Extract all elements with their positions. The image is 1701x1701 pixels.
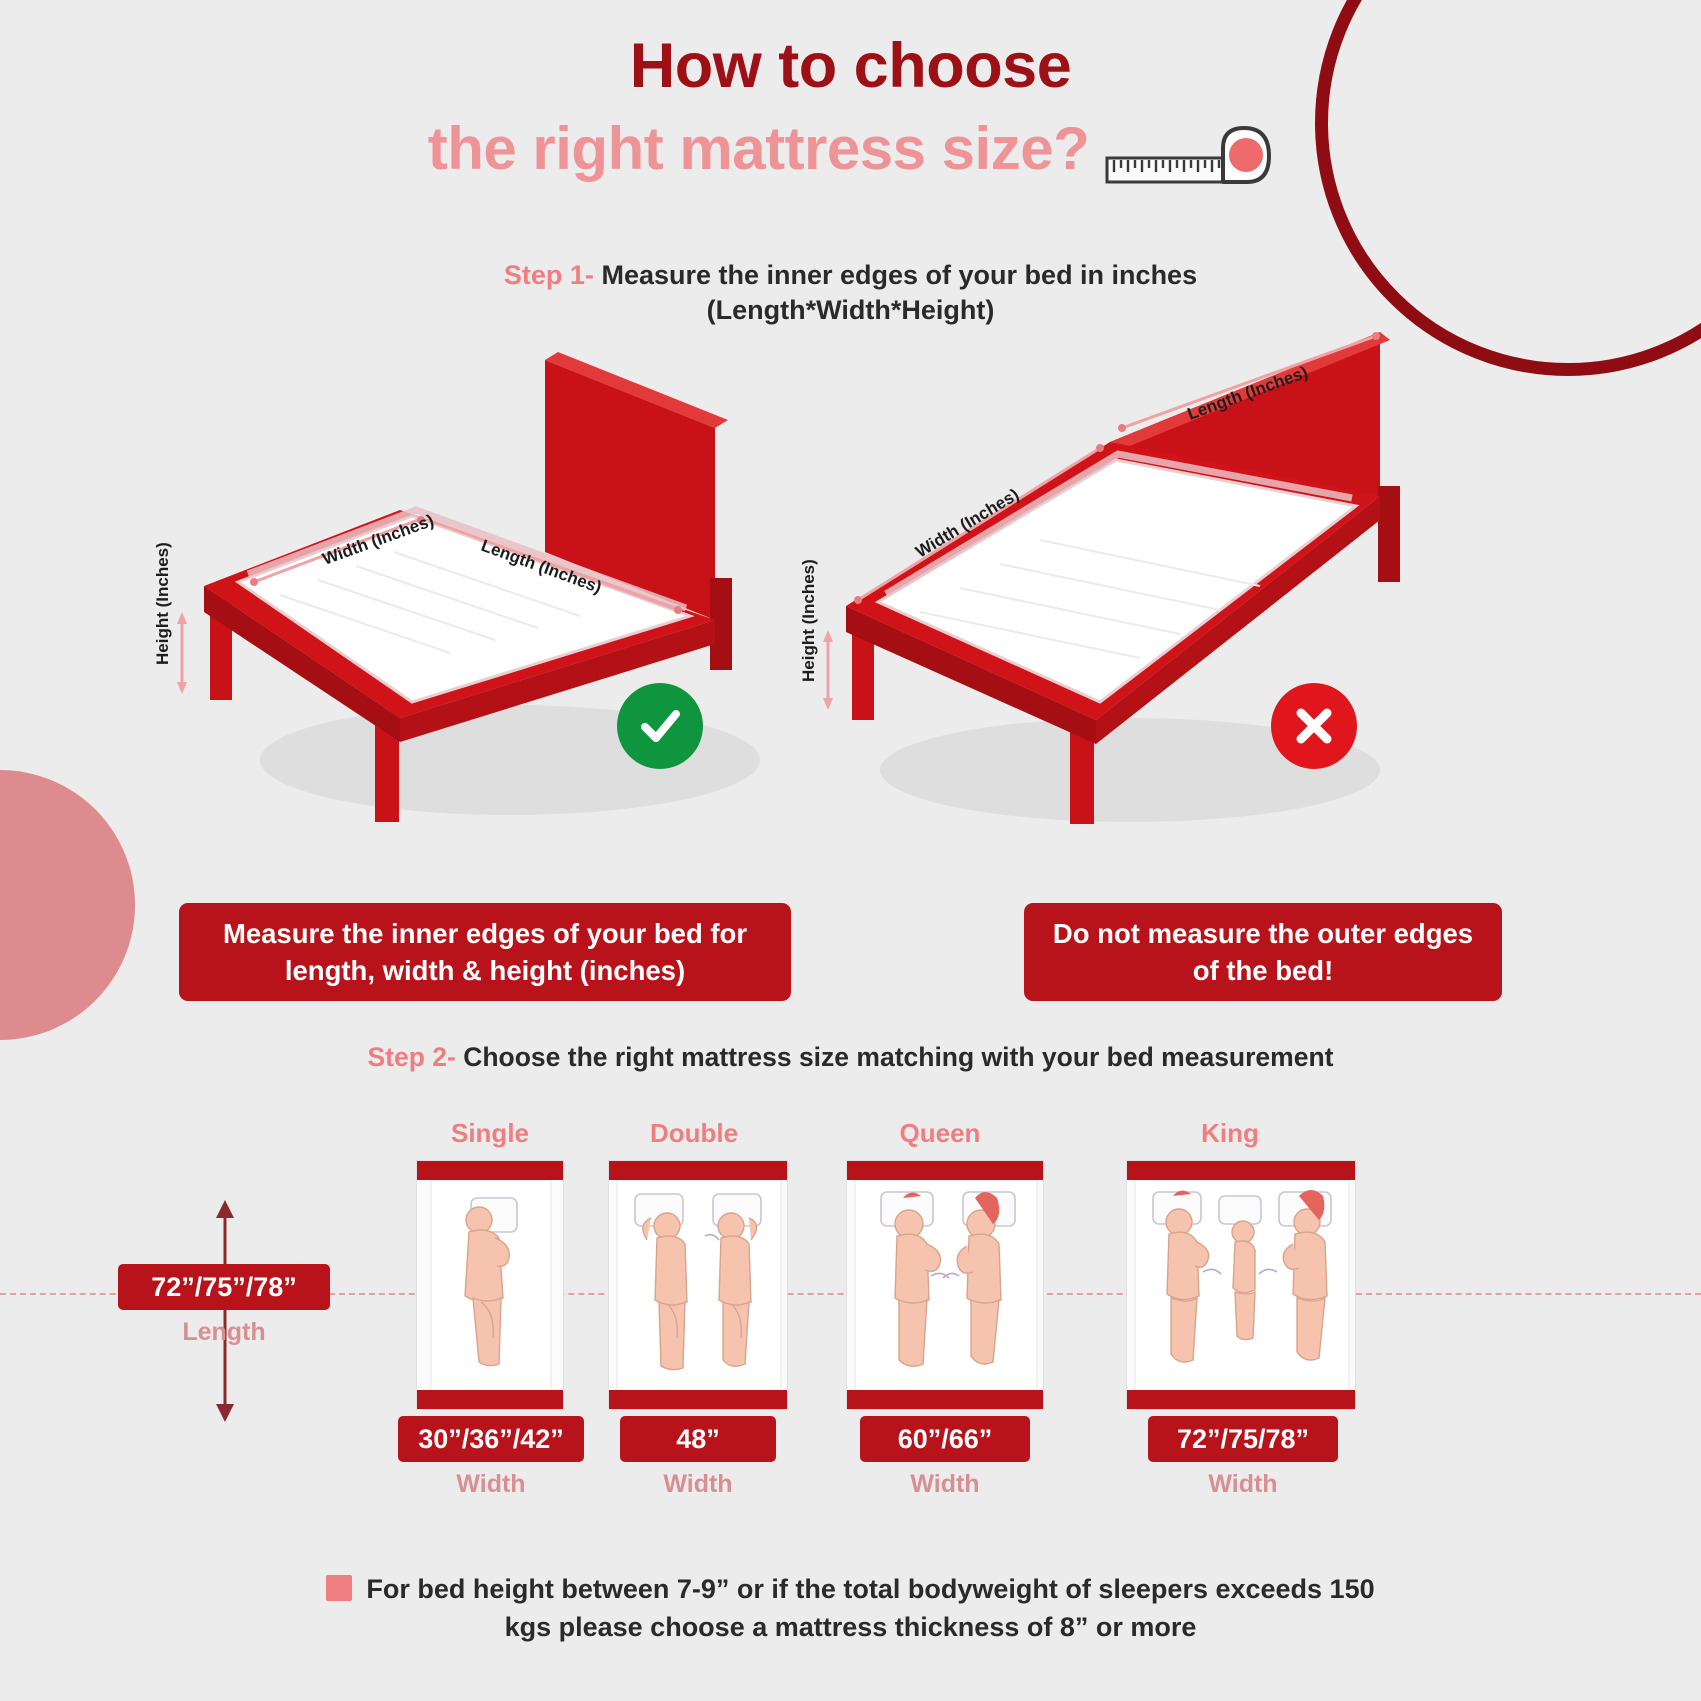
width-caption-double: Width [620,1470,776,1499]
bed-diagram-correct: Width (Inches) Length (Inches) Height (I… [150,320,790,860]
step-2-text: Choose the right mattress size matching … [463,1042,1333,1072]
size-label-double: Double [604,1118,784,1149]
mattress-card-double[interactable] [608,1160,788,1410]
mattress-top-bar [847,1161,1043,1180]
size-label-queen: Queen [850,1118,1030,1149]
color-swatch-icon [326,1575,352,1601]
footer-note-line-2: kgs please choose a mattress thickness o… [150,1608,1551,1646]
mattress-surface [847,1180,1043,1390]
banner-incorrect: Do not measure the outer edges of the be… [1024,903,1502,1001]
mattress-top-bar [609,1161,787,1180]
bed-right-height-label: Height (Inches) [800,559,818,682]
width-chip-queen: 60”/66” [860,1416,1030,1462]
width-chip-king: 72”/75/78” [1148,1416,1338,1462]
bed-left-height-label: Height (Inches) [153,542,172,665]
width-chip-single: 30”/36”/42” [398,1416,584,1462]
mattress-surface [609,1180,787,1390]
footer-note-line-1: For bed height between 7-9” or if the to… [366,1574,1374,1604]
mattress-top-bar [417,1161,563,1180]
step-1-label: Step 1- [504,260,594,290]
mattress-bottom-bar [1127,1390,1355,1409]
bed-diagrams: Width (Inches) Length (Inches) Height (I… [0,300,1701,840]
mattress-card-king[interactable] [1126,1160,1356,1410]
banner-correct: Measure the inner edges of your bed for … [179,903,791,1001]
mattress-card-queen[interactable] [846,1160,1044,1410]
measuring-tape-icon [1105,122,1273,198]
mattress-surface [1127,1180,1355,1390]
size-label-single: Single [400,1118,580,1149]
mattress-top-bar [1127,1161,1355,1180]
size-label-king: King [1140,1118,1320,1149]
step-2-heading: Step 2- Choose the right mattress size m… [0,1041,1701,1075]
infographic-canvas: How to choose the right mattress size? [0,0,1701,1701]
bed-diagram-incorrect: Width (Inches) Length (Inches) Height (I… [800,300,1440,840]
mattress-size-row: Single 30”/ [0,1118,1701,1458]
mattress-card-single[interactable] [416,1160,564,1410]
width-caption-queen: Width [860,1470,1030,1499]
title-line-1: How to choose [0,34,1701,100]
page-title: How to choose the right mattress size? [0,34,1701,198]
cross-icon [1271,683,1357,769]
step-2-label: Step 2- [367,1042,455,1072]
check-icon [617,683,703,769]
mattress-bottom-bar [847,1390,1043,1409]
step-1-text: Measure the inner edges of your bed in i… [601,260,1197,290]
width-caption-king: Width [1148,1470,1338,1499]
mattress-surface [417,1180,563,1390]
title-line-2: the right mattress size? [428,115,1090,182]
width-caption-single: Width [398,1470,584,1499]
mattress-bottom-bar [417,1390,563,1409]
width-chip-double: 48” [620,1416,776,1462]
footer-note: For bed height between 7-9” or if the to… [0,1570,1701,1647]
mattress-bottom-bar [609,1390,787,1409]
